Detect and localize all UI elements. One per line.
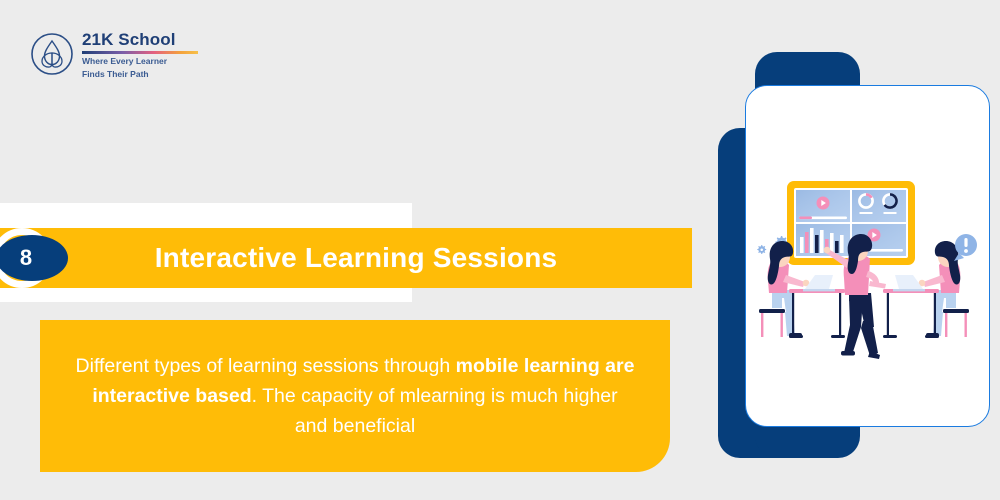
brand-title: 21K School xyxy=(82,30,212,50)
slide-canvas: 21K School Where Every Learner Finds The… xyxy=(0,0,1000,500)
step-number-badge: 8 xyxy=(0,226,72,290)
brand-tagline-line2: Finds Their Path xyxy=(82,69,212,80)
donut-panel-top-right xyxy=(852,190,906,222)
title-white-strip-top xyxy=(0,203,412,228)
exclamation-speech-bubble-icon xyxy=(954,234,977,261)
badge-number-label: 8 xyxy=(0,235,56,281)
brand-logo: 21K School Where Every Learner Finds The… xyxy=(30,30,210,82)
brand-gradient-rule xyxy=(82,51,198,54)
video-panel-top-left xyxy=(796,190,850,222)
brand-wordmark: 21K School Where Every Learner Finds The… xyxy=(82,30,212,80)
description-part1: Different types of learning sessions thr… xyxy=(76,355,456,377)
description-text: Different types of learning sessions thr… xyxy=(75,351,635,441)
brand-tagline-line1: Where Every Learner xyxy=(82,56,212,67)
title-white-strip-bottom xyxy=(0,288,412,302)
bar-chart-panel-bottom-left xyxy=(796,224,850,256)
description-card: Different types of learning sessions thr… xyxy=(40,320,670,472)
page-title: Interactive Learning Sessions xyxy=(0,228,692,288)
interactive-classroom-illustration xyxy=(745,85,990,427)
lotus-circle-mark-icon xyxy=(30,32,74,76)
description-part2: . The capacity of mlearning is much high… xyxy=(252,385,618,437)
